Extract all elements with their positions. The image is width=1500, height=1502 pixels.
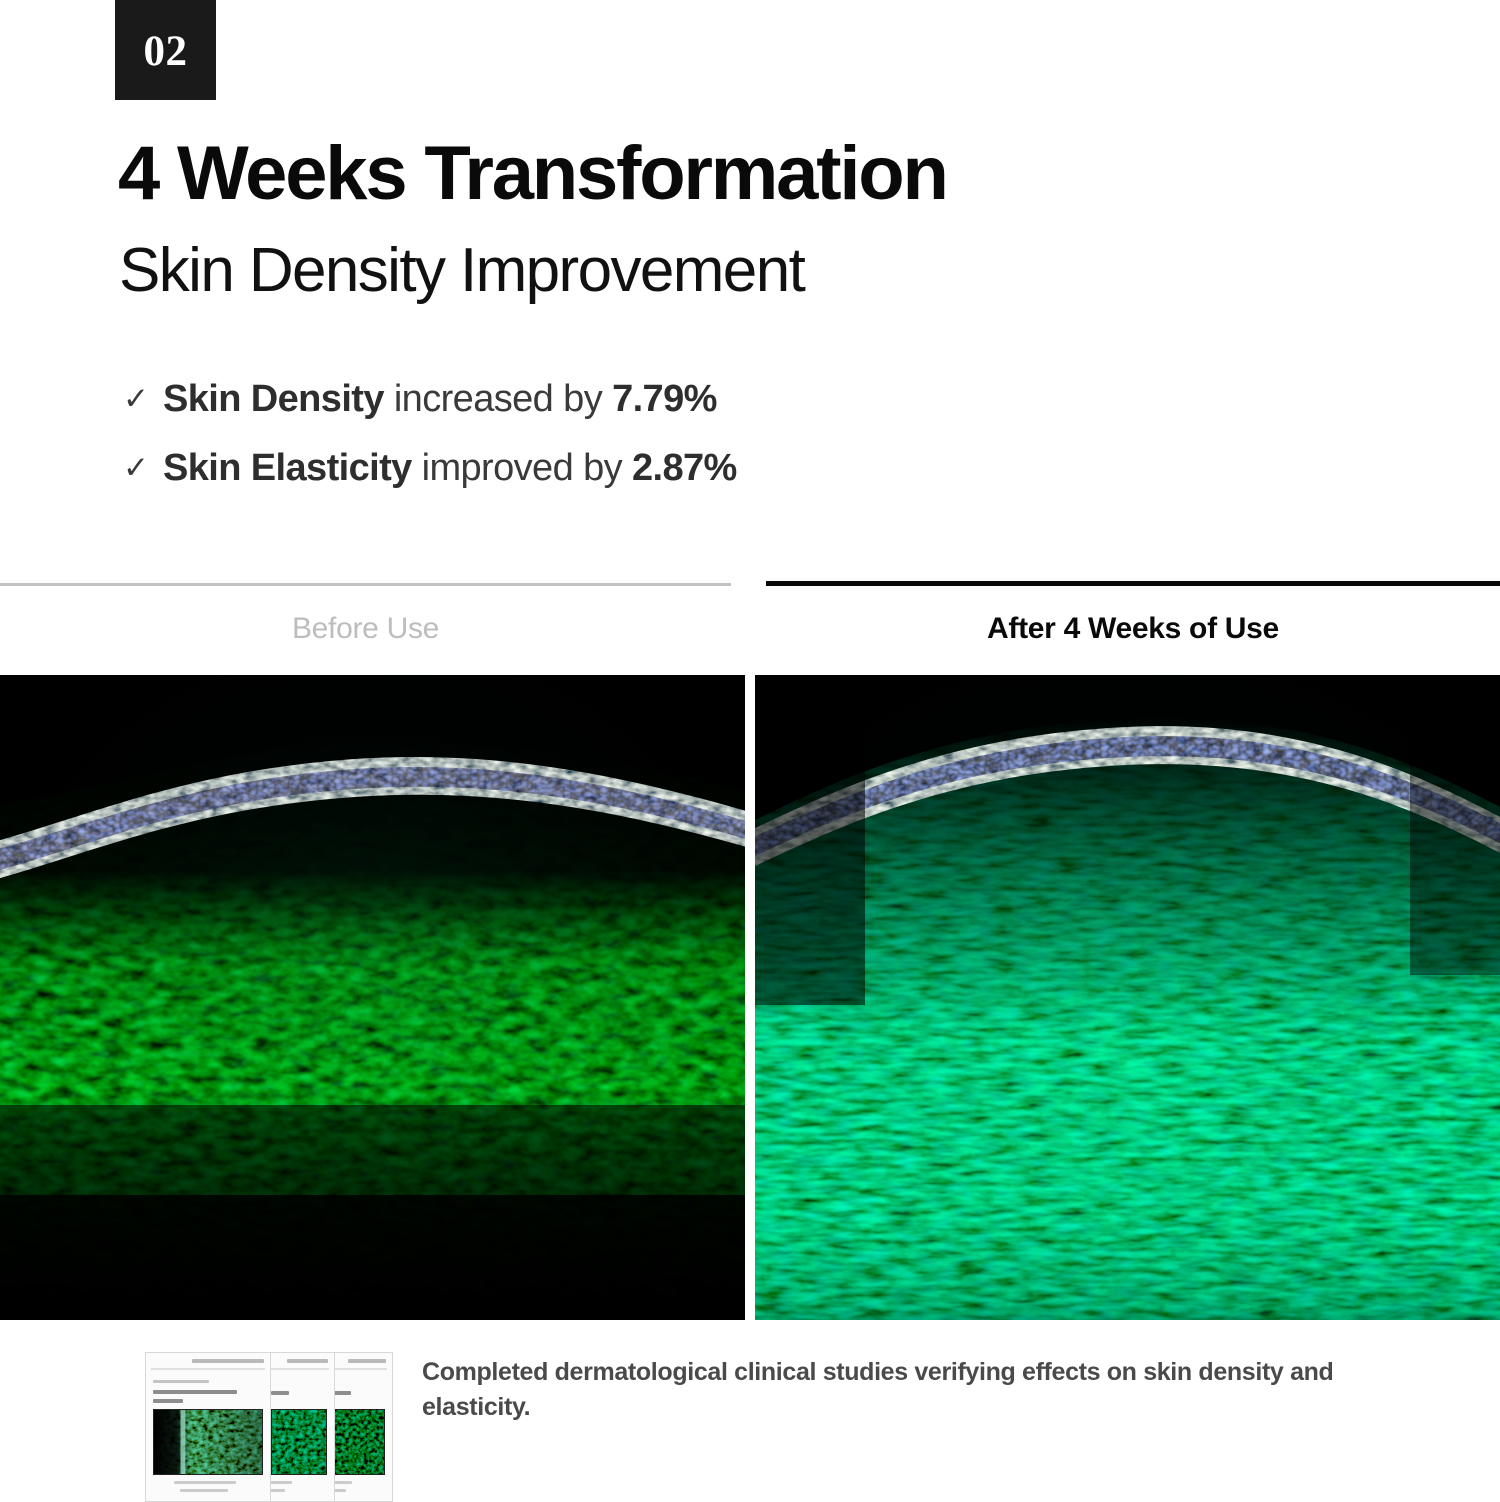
list-item: ✓ Skin Density increased by 7.79% <box>123 378 1323 421</box>
thumbnail-page-3 <box>325 1352 393 1502</box>
thumbnail-rule <box>331 1368 387 1370</box>
thumbnail-rule <box>151 1368 265 1370</box>
footer-caption: Completed dermatological clinical studie… <box>422 1355 1422 1424</box>
thumbnail-page-1 <box>145 1352 271 1502</box>
benefit-value: 2.87% <box>632 447 737 489</box>
page-subtitle: Skin Density Improvement <box>119 238 804 303</box>
thumbnail-scan-graphic <box>272 1410 326 1474</box>
thumbnail-scan-image <box>333 1409 385 1475</box>
check-icon: ✓ <box>123 452 163 483</box>
section-number-badge: 02 <box>115 0 216 100</box>
after-ultrasound-image <box>755 675 1500 1320</box>
thumbnail-footer-line <box>270 1489 285 1492</box>
thumbnail-scan-graphic <box>334 1410 384 1474</box>
benefit-text: Skin Elasticity improved by 2.87% <box>163 447 737 490</box>
thumbnail-headline-bar <box>192 1359 264 1363</box>
thumbnail-scan-image <box>153 1409 263 1475</box>
thumbnail-footer-line <box>332 1481 352 1484</box>
thumbnail-scan-graphic <box>154 1410 262 1474</box>
after-scan-graphic <box>755 675 1500 1320</box>
divider-before <box>0 583 731 586</box>
benefit-verb: increased by <box>384 378 612 420</box>
thumbnail-footer-line <box>174 1481 236 1484</box>
thumbnail-text-line <box>153 1399 183 1403</box>
thumbnail-text-line <box>271 1391 289 1395</box>
thumbnail-scan-image <box>271 1409 327 1475</box>
check-icon: ✓ <box>123 383 163 414</box>
thumbnail-headline-bar <box>287 1359 328 1363</box>
divider-after <box>766 581 1500 586</box>
before-scan-graphic <box>0 675 745 1320</box>
benefit-metric-label: Skin Elasticity <box>163 447 412 489</box>
thumbnail-text-line <box>153 1390 237 1394</box>
thumbnail-text-line <box>333 1391 351 1395</box>
benefit-verb: improved by <box>412 447 632 489</box>
promo-slide: 02 4 Weeks Transformation Skin Density I… <box>0 0 1500 1500</box>
benefit-metric-label: Skin Density <box>163 378 384 420</box>
thumbnail-page-2 <box>263 1352 335 1502</box>
thumbnail-text-line <box>153 1380 209 1383</box>
thumbnail-headline-bar <box>348 1359 386 1363</box>
thumbnail-footer-line <box>270 1481 292 1484</box>
clinical-study-document-thumbnail <box>145 1352 391 1500</box>
before-column-label: Before Use <box>0 612 731 646</box>
section-number-label: 02 <box>144 24 188 73</box>
page-title: 4 Weeks Transformation <box>118 135 947 213</box>
benefit-value: 7.79% <box>612 378 717 420</box>
thumbnail-rule <box>269 1368 329 1370</box>
list-item: ✓ Skin Elasticity improved by 2.87% <box>123 447 1323 490</box>
before-ultrasound-image <box>0 675 745 1320</box>
after-column-label: After 4 Weeks of Use <box>766 612 1500 646</box>
benefit-list: ✓ Skin Density increased by 7.79% ✓ Skin… <box>123 378 1323 516</box>
benefit-text: Skin Density increased by 7.79% <box>163 378 717 421</box>
thumbnail-footer-line <box>180 1489 228 1492</box>
